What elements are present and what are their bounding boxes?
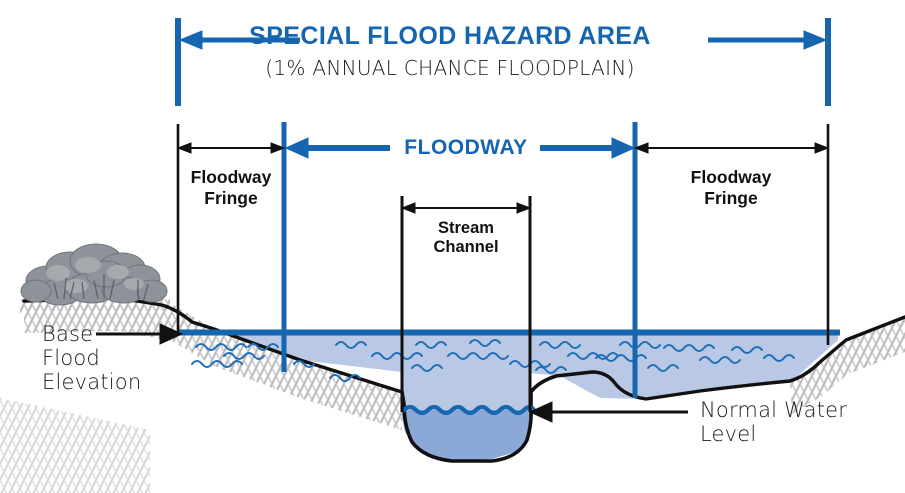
floodway-fringe-left-label: Floodway Fringe	[178, 167, 284, 209]
stream-channel-line2: Channel	[402, 238, 530, 257]
stream-channel-upper-water	[402, 372, 530, 412]
normal-water-level-label: Normal Water Level	[700, 398, 900, 446]
page-subtitle: (1% ANNUAL CHANCE FLOODPLAIN)	[220, 57, 680, 79]
floodway-fringe-right-line1: Floodway	[678, 167, 784, 188]
base-flood-elevation-line1: Base	[42, 322, 202, 346]
stream-channel-deep-water	[402, 410, 530, 461]
shrub-icon-group	[21, 244, 167, 305]
fringe-right-dimension-arrows	[635, 143, 828, 153]
stream-channel-label: Stream Channel	[402, 219, 530, 257]
base-flood-elevation-line2: Flood	[42, 346, 202, 370]
stream-channel-dimension-arrows	[402, 203, 530, 213]
floodway-fringe-left-line2: Fringe	[178, 188, 284, 209]
floodplain-diagram: SPECIAL FLOOD HAZARD AREA (1% ANNUAL CHA…	[0, 0, 905, 493]
stream-channel-line1: Stream	[402, 219, 530, 238]
floodway-fringe-right-label: Floodway Fringe	[678, 167, 784, 209]
page-title: SPECIAL FLOOD HAZARD AREA	[220, 22, 680, 50]
base-flood-elevation-line3: Elevation	[42, 370, 202, 394]
floodway-label: FLOODWAY	[396, 136, 536, 160]
floodway-fringe-left-line1: Floodway	[178, 167, 284, 188]
normal-water-level-callout-arrow	[530, 402, 688, 422]
fringe-left-dimension-arrows	[178, 143, 284, 153]
floodway-fringe-right-line2: Fringe	[678, 188, 784, 209]
normal-water-level-line2: Level	[700, 422, 900, 446]
normal-water-level-line1: Normal Water	[700, 398, 900, 422]
base-flood-elevation-label: Base Flood Elevation	[42, 322, 202, 394]
ground-hatch-corner	[0, 390, 160, 493]
